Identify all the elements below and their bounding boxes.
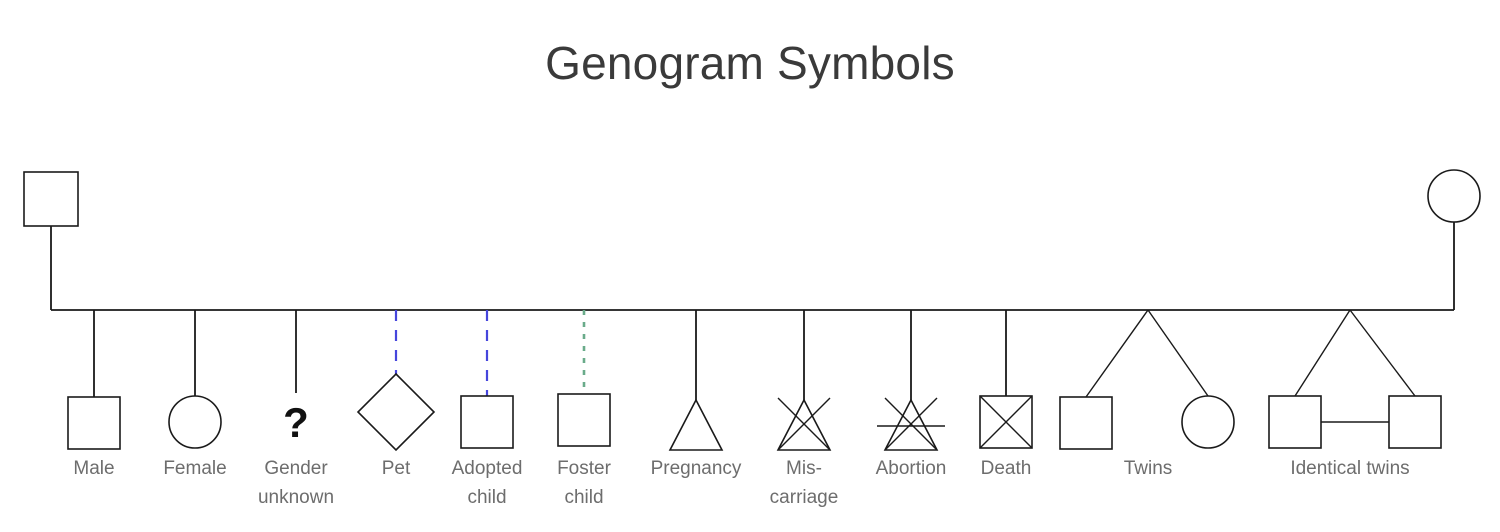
genogram-canvas: ? MaleFemaleGenderunknownPetAdoptedchild…: [0, 0, 1500, 532]
label-miscarriage-line2: carriage: [770, 487, 839, 508]
symbol-twins-member2[interactable]: [1182, 396, 1234, 448]
label-pregnancy: Pregnancy: [651, 458, 742, 479]
connector-identical-twins-leg2: [1350, 310, 1415, 396]
symbol-identical-twins-member1[interactable]: [1269, 396, 1321, 448]
parent-mother-circle[interactable]: [1428, 170, 1480, 222]
label-foster-child-line1: Foster: [557, 458, 612, 479]
connector-identical-twins-leg1: [1295, 310, 1350, 396]
connector-lines-layer: [51, 222, 1454, 400]
symbol-identical-twins-member2[interactable]: [1389, 396, 1441, 448]
symbol-twins-member1[interactable]: [1060, 397, 1112, 449]
parent-father-square[interactable]: [24, 172, 78, 226]
label-male: Male: [73, 458, 114, 479]
genogram-diagram: Genogram Symbols ? MaleFemaleGenderunkno…: [0, 0, 1500, 532]
label-miscarriage-line1: Mis-: [786, 458, 822, 479]
label-adopted-child-line2: child: [467, 487, 506, 508]
label-twins: Twins: [1124, 458, 1173, 479]
connector-twins-leg1: [1086, 310, 1148, 397]
label-foster-child-line2: child: [564, 487, 603, 508]
label-gender-unknown-line2: unknown: [258, 487, 334, 508]
symbol-foster-child[interactable]: [558, 394, 610, 446]
connector-twins-leg2: [1148, 310, 1208, 396]
label-gender-unknown-line1: Gender: [264, 458, 328, 479]
symbol-pregnancy[interactable]: [670, 400, 722, 450]
label-pet: Pet: [382, 458, 411, 479]
symbol-pet[interactable]: [358, 374, 434, 450]
symbol-male[interactable]: [68, 397, 120, 449]
labels-layer: MaleFemaleGenderunknownPetAdoptedchildFo…: [73, 458, 1409, 508]
symbol-female[interactable]: [169, 396, 221, 448]
label-female: Female: [163, 458, 226, 479]
label-adopted-child-line1: Adopted: [452, 458, 523, 479]
label-abortion: Abortion: [876, 458, 947, 479]
label-death: Death: [981, 458, 1032, 479]
symbol-adopted-child[interactable]: [461, 396, 513, 448]
symbol-gender-unknown[interactable]: ?: [283, 399, 309, 446]
label-identical-twins: Identical twins: [1290, 458, 1409, 479]
